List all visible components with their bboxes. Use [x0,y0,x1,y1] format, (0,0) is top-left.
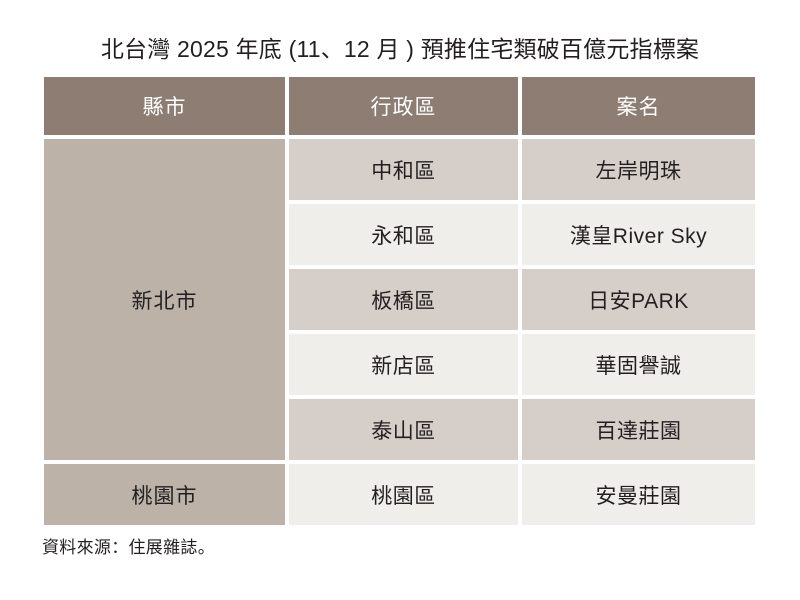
project-cell: 左岸明珠 [522,139,755,204]
city-cell-taoyuan: 桃園市 [44,464,289,525]
district-cell: 永和區 [289,204,522,269]
column-header-project: 案名 [522,77,755,139]
project-cell: 百達莊園 [522,399,755,464]
district-cell: 桃園區 [289,464,522,525]
table-row: 新北市 中和區 左岸明珠 [44,139,755,204]
table-header-row: 縣市 行政區 案名 [44,77,755,139]
data-table-container: 縣市 行政區 案名 新北市 中和區 左岸明珠 永和區 漢皇River Sky 板… [44,77,755,525]
project-cell: 安曼莊園 [522,464,755,525]
district-cell: 新店區 [289,334,522,399]
table-header: 縣市 行政區 案名 [44,77,755,139]
infographic-table-page: 北台灣 2025 年底 (11、12 月 ) 預推住宅類破百億元指標案 縣市 行… [0,0,800,600]
project-cell: 日安PARK [522,269,755,334]
table-row: 桃園市 桃園區 安曼莊園 [44,464,755,525]
project-cell: 華固譽誠 [522,334,755,399]
district-cell: 泰山區 [289,399,522,464]
table-body: 新北市 中和區 左岸明珠 永和區 漢皇River Sky 板橋區 日安PARK … [44,139,755,525]
project-cell: 漢皇River Sky [522,204,755,269]
housing-projects-table: 縣市 行政區 案名 新北市 中和區 左岸明珠 永和區 漢皇River Sky 板… [44,77,755,525]
column-header-city: 縣市 [44,77,289,139]
source-note: 資料來源：住展雜誌。 [42,536,215,560]
city-cell-new-taipei: 新北市 [44,139,289,464]
column-header-district: 行政區 [289,77,522,139]
page-title: 北台灣 2025 年底 (11、12 月 ) 預推住宅類破百億元指標案 [0,33,800,65]
district-cell: 板橋區 [289,269,522,334]
district-cell: 中和區 [289,139,522,204]
